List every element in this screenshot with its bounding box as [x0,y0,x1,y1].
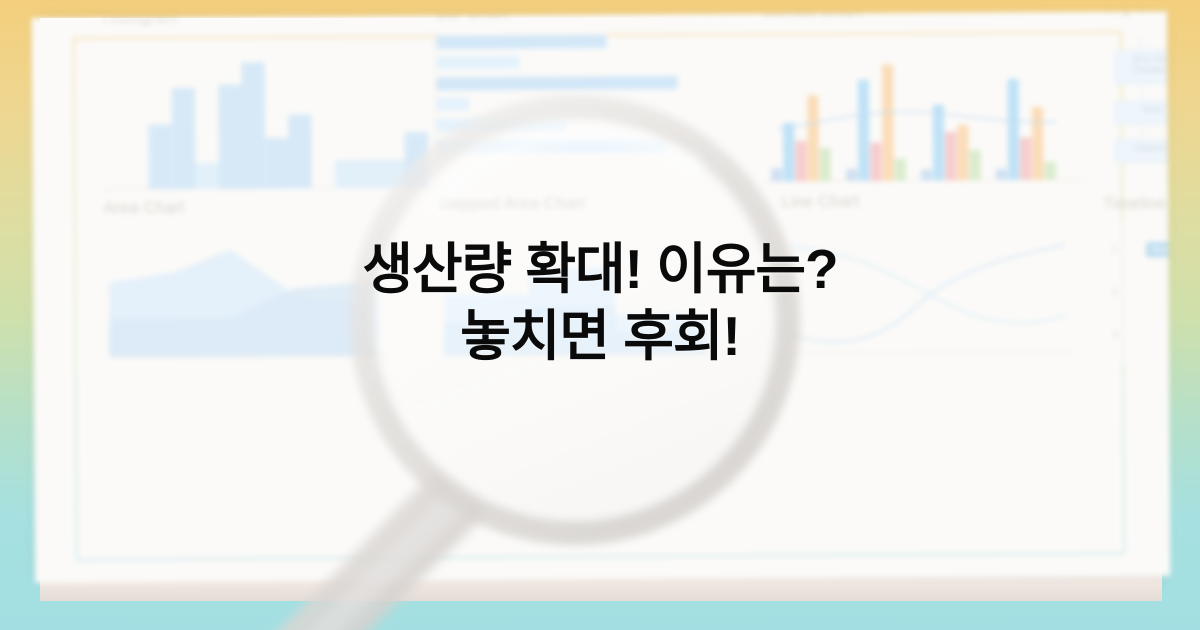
widget-label-timeline: Timeline [1103,195,1166,214]
histogram-plot [103,34,387,190]
widget-label-combo-chart: Combo Chart [762,11,862,22]
org-chart-plot: Jerry Vice President Kent Cleaners [1102,25,1170,198]
headline-line-1: 생산량 확대! 이유는? [0,236,1200,303]
bar-chart-plot [436,30,741,189]
widget-label-area-chart: Area Chart [104,199,185,218]
org-node: Cleaners [1115,139,1170,164]
widget-label-org-chart: Org Chart [1102,11,1170,17]
widget-label-bar-chart: Bar Chart [436,11,508,24]
headline-line-2: 놓치면 후회! [0,303,1200,370]
widget-histogram: Histogram [102,11,387,202]
org-node: Kent [1115,100,1171,125]
widget-label-stepped-area-chart: Stepped Area Chart [437,195,585,214]
widget-label-histogram: Histogram [102,11,179,28]
combo-chart-plot [762,28,1097,182]
combo-trend-line [762,28,1097,182]
thumbnail-canvas: Histogram Bar Chart [0,0,1200,630]
headline: 생산량 확대! 이유는? 놓치면 후회! [0,236,1200,370]
widget-combo-chart: Combo Chart [762,11,1097,196]
widget-label-line-chart: Line Chart [782,193,860,212]
widget-bar-chart: Bar Chart [436,11,741,198]
org-node: Jerry Vice President [1115,50,1171,85]
widget-org-chart: Org Chart Jerry Vice President Kent Clea… [1102,11,1170,212]
